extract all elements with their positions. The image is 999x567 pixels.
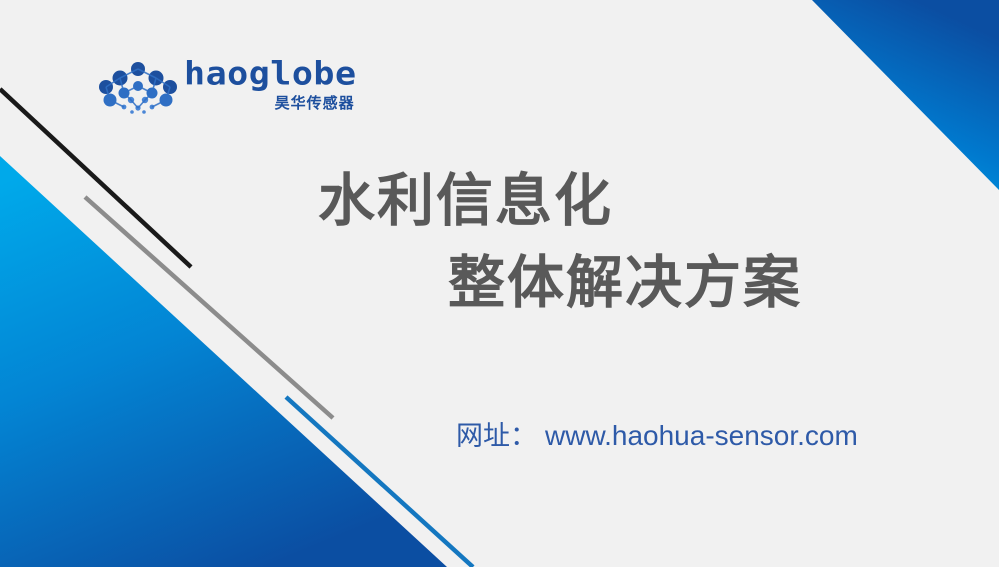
logo-chinese-name: 昊华传感器 (275, 95, 355, 112)
logo-text: haoglobe 昊华传感器 (184, 58, 357, 112)
logo-wordmark: haoglobe (184, 58, 357, 91)
website-label: 网址： (456, 419, 537, 455)
website-line: 网址： www.haohua-sensor.com (456, 418, 858, 455)
molecule-network-icon (98, 62, 178, 118)
presentation-slide: haoglobe 昊华传感器 水利信息化 整体解决方案 网址： www.haoh… (0, 0, 999, 567)
website-url[interactable]: www.haohua-sensor.com (545, 418, 858, 454)
company-logo: haoglobe 昊华传感器 (98, 58, 328, 122)
